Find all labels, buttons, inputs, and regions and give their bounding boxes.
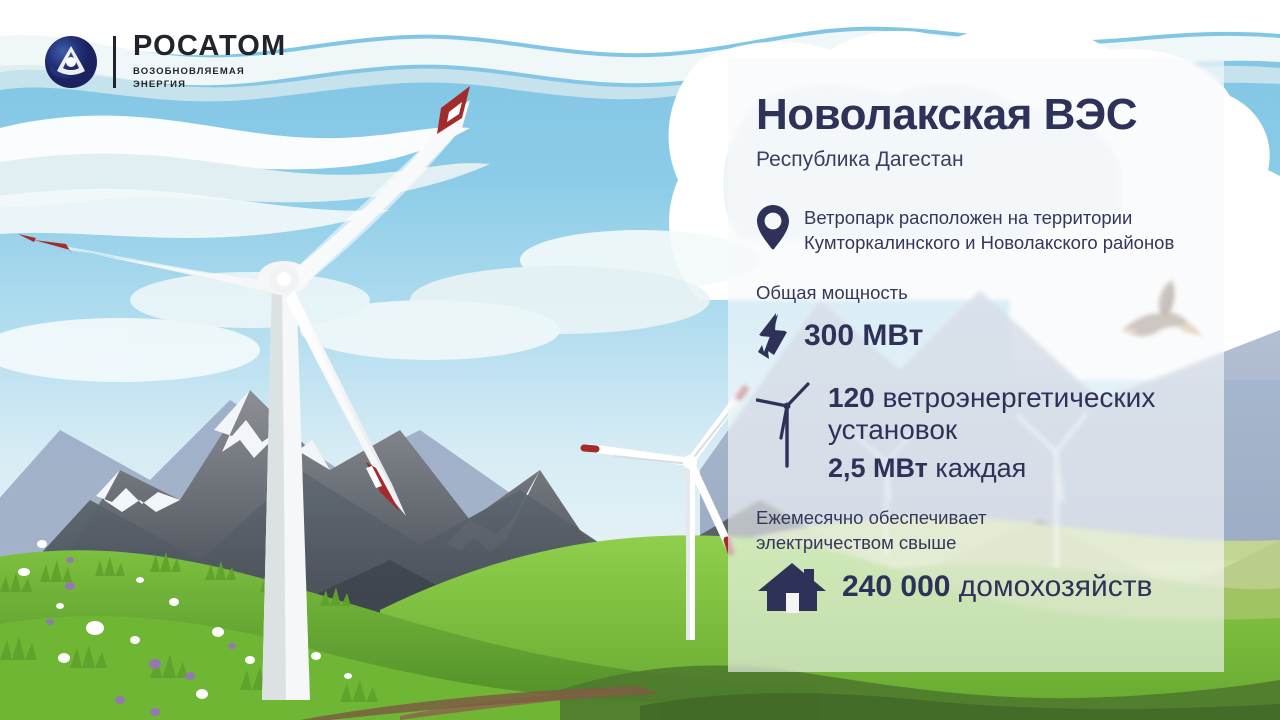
- foliage-darkest: [640, 693, 1280, 720]
- grass-tufts: [0, 552, 378, 702]
- households-section: Ежемесячно обеспечивает электричеством с…: [756, 506, 1194, 613]
- turbines-unit-line2: установок: [828, 414, 957, 445]
- foliage-dark-right: [560, 666, 1280, 720]
- households-lead-line2: электричеством свыше: [756, 532, 956, 553]
- rosatom-logo: РОСАТОМ ВОЗОБНОВЛЯЕМАЯ ЭНЕРГИЯ: [44, 32, 286, 92]
- hill-foreground-green: [0, 616, 660, 720]
- dirt-path-2: [300, 686, 660, 720]
- hill-left-green: [0, 550, 820, 720]
- households-value: 240 000 домохозяйств: [842, 570, 1152, 604]
- location-line2: Кумторкалинского и Новолакского районов: [804, 232, 1174, 253]
- info-panel: Новолакская ВЭС Республика Дагестан Ветр…: [728, 58, 1224, 672]
- turbines-text: 120 ветроэнергетических установок 2,5 МВ…: [828, 382, 1155, 484]
- turbine-each-suffix: каждая: [928, 453, 1026, 483]
- infographic-canvas: РОСАТОМ ВОЗОБНОВЛЯЕМАЯ ЭНЕРГИЯ Новолакск…: [0, 0, 1280, 720]
- households-lead: Ежемесячно обеспечивает электричеством с…: [756, 506, 1194, 555]
- households-label: домохозяйств: [950, 570, 1152, 603]
- turbines-count: 120: [828, 382, 875, 413]
- wind-turbine-icon: [756, 382, 818, 468]
- logo-tagline-line1: ВОЗОБНОВЛЯЕМАЯ: [133, 66, 245, 77]
- households-value-row: 240 000 домохозяйств: [756, 561, 1194, 613]
- dirt-path: [400, 690, 660, 720]
- logo-brand-name: РОСАТОМ: [133, 32, 286, 61]
- power-label: Общая мощность: [756, 281, 1194, 305]
- lightning-bolt-icon: [756, 312, 790, 360]
- power-section: Общая мощность 300 МВт: [756, 281, 1194, 359]
- households-lead-line1: Ежемесячно обеспечивает: [756, 507, 987, 528]
- location-line1: Ветропарк расположен на территории: [804, 207, 1132, 228]
- power-value: 300 МВт: [804, 319, 923, 353]
- page-title: Новолакская ВЭС: [756, 92, 1194, 138]
- turbines-unit-line1: ветроэнергетических: [875, 382, 1156, 413]
- page-subtitle: Республика Дагестан: [756, 148, 1194, 172]
- turbines-section: 120 ветроэнергетических установок 2,5 МВ…: [756, 382, 1194, 484]
- flower-specks: [18, 540, 352, 716]
- map-pin-icon: [756, 204, 790, 250]
- households-count: 240 000: [842, 570, 950, 603]
- logo-divider: [113, 36, 116, 88]
- location-row: Ветропарк расположен на территории Кумто…: [756, 204, 1194, 255]
- location-text: Ветропарк расположен на территории Кумто…: [804, 204, 1174, 255]
- rosatom-atom-icon: [44, 35, 98, 89]
- turbine-each-value: 2,5 МВт: [828, 453, 928, 483]
- logo-tagline-line2: ЭНЕРГИЯ: [133, 79, 186, 90]
- house-icon: [756, 561, 830, 613]
- power-value-row: 300 МВт: [756, 312, 1194, 360]
